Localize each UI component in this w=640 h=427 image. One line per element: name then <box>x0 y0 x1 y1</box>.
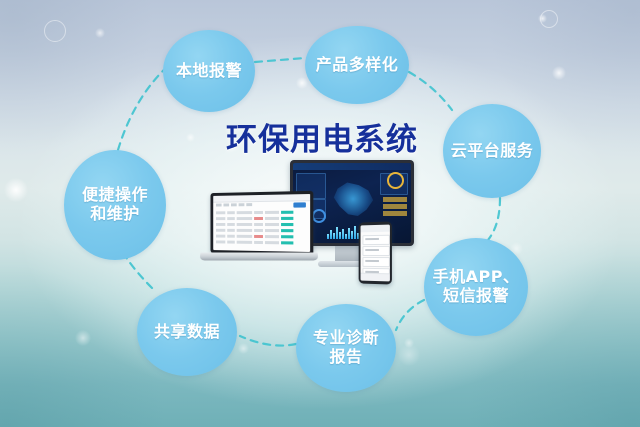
device-cluster <box>186 160 436 310</box>
node-professional-diagnostic-report[interactable]: 专业诊断 报告 <box>296 304 396 392</box>
node-label-line1: 便捷操作 <box>78 186 152 205</box>
dashboard-topbar <box>293 163 411 170</box>
table-row <box>216 217 295 220</box>
dashboard-tile <box>383 204 407 209</box>
laptop-base <box>199 253 318 261</box>
laptop-lid <box>210 191 313 255</box>
app-list-item <box>362 246 389 256</box>
smartphone <box>359 221 392 284</box>
node-label-line1: 手机APP、 <box>429 268 524 287</box>
node-label-line2: 短信报警 <box>429 287 524 306</box>
node-label-line2: 报告 <box>309 348 383 367</box>
node-label-line2: 和维护 <box>78 205 152 224</box>
phone-screen-app <box>361 225 390 282</box>
app-list-item <box>362 235 389 245</box>
node-label-line1: 专业诊断 <box>309 329 383 348</box>
node-label: 共享数据 <box>150 323 224 342</box>
node-cloud-platform-service[interactable]: 云平台服务 <box>443 104 541 198</box>
table-row <box>216 235 295 239</box>
gauge-ring <box>387 172 404 189</box>
table-header-bar <box>213 194 310 203</box>
node-shared-data[interactable]: 共享数据 <box>137 288 237 376</box>
page-title: 环保用电系统 <box>226 114 438 159</box>
node-product-diversification[interactable]: 产品多样化 <box>305 26 409 104</box>
app-header-bar <box>361 225 390 233</box>
node-mobile-app-sms-alarm[interactable]: 手机APP、 短信报警 <box>424 238 528 336</box>
node-label: 本地报警 <box>172 62 246 81</box>
laptop-screen-table <box>213 194 310 252</box>
node-convenient-operation-maintenance[interactable]: 便捷操作 和维护 <box>64 150 166 260</box>
node-label: 云平台服务 <box>447 142 538 161</box>
app-list-item <box>362 257 389 267</box>
dashboard-tile <box>383 211 407 216</box>
table-action-badge <box>293 202 306 207</box>
app-bottom-nav <box>361 273 390 282</box>
infographic-canvas: 环保用电系统 <box>0 0 640 427</box>
table-row <box>216 229 295 232</box>
table-row <box>216 240 295 244</box>
china-map-visual <box>329 179 377 223</box>
dashboard-tile <box>383 197 407 202</box>
node-label: 产品多样化 <box>312 56 403 75</box>
node-local-alarm[interactable]: 本地报警 <box>163 30 255 112</box>
table-toolbar <box>216 203 252 206</box>
table-row <box>216 211 295 215</box>
table-row <box>216 223 295 226</box>
laptop <box>200 192 318 264</box>
